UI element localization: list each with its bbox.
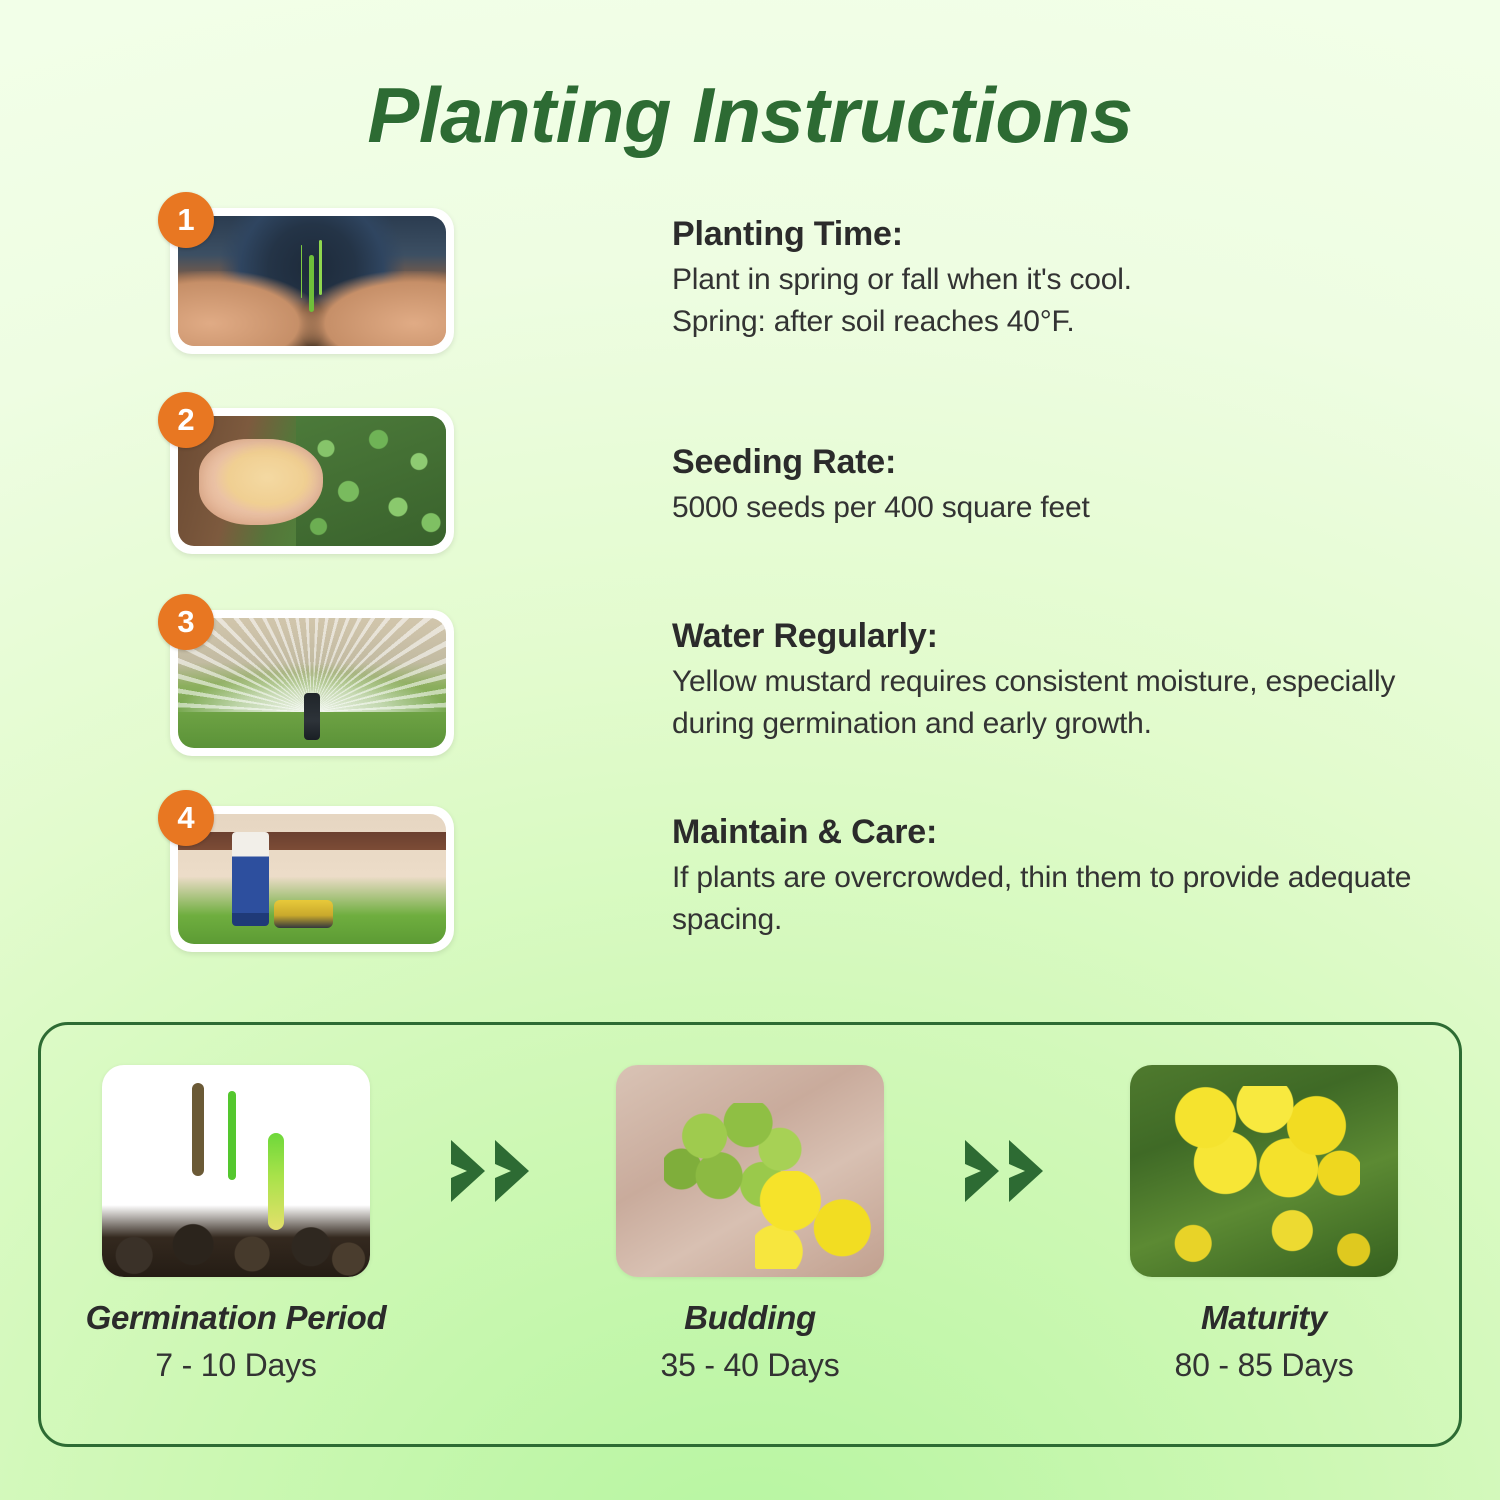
step-number-badge: 2 <box>158 392 214 448</box>
lawn-mower-icon <box>274 900 333 929</box>
step-body: 5000 seeds per 400 square feet <box>672 487 1090 528</box>
step-heading: Water Regularly: <box>672 616 1440 657</box>
step-image-card <box>170 408 454 554</box>
step-image-card <box>170 208 454 354</box>
stage-days: 80 - 85 Days <box>1103 1347 1425 1384</box>
step-body: Yellow mustard requires consistent moist… <box>672 661 1440 744</box>
step-text-block: Planting Time: Plant in spring or fall w… <box>454 192 1132 342</box>
timeline-stage-germination: Germination Period 7 - 10 Days <box>75 1065 397 1384</box>
step-image-card <box>170 610 454 756</box>
step-number-badge: 4 <box>158 790 214 846</box>
stage-name: Budding <box>589 1299 911 1337</box>
step-body: If plants are overcrowded, thin them to … <box>672 857 1440 940</box>
double-chevron-right-icon <box>947 1065 1067 1277</box>
growth-timeline-row: Germination Period 7 - 10 Days Budding 3… <box>41 1025 1459 1444</box>
step-text-block: Maintain & Care: If plants are overcrowd… <box>454 790 1440 940</box>
step-image-card <box>170 806 454 952</box>
stage-name: Germination Period <box>75 1299 397 1337</box>
mustard-flower-buds-photo <box>616 1065 884 1277</box>
step-text-block: Seeding Rate: 5000 seeds per 400 square … <box>454 392 1090 529</box>
page-title: Planting Instructions <box>0 76 1500 154</box>
stage-days: 7 - 10 Days <box>75 1347 397 1384</box>
hands-holding-soil-seedling-photo <box>178 216 446 346</box>
step-number-badge: 3 <box>158 594 214 650</box>
list-item: 2 Seeding Rate: 5000 seeds per 400 squar… <box>158 392 1440 594</box>
step-heading: Seeding Rate: <box>672 442 1090 483</box>
header: Planting Instructions <box>0 0 1500 154</box>
step-heading: Maintain & Care: <box>672 812 1440 853</box>
timeline-stage-budding: Budding 35 - 40 Days <box>589 1065 911 1384</box>
stage-name: Maturity <box>1103 1299 1425 1337</box>
growth-timeline-panel: Germination Period 7 - 10 Days Budding 3… <box>38 1022 1462 1447</box>
double-chevron-right-icon <box>433 1065 553 1277</box>
planting-steps-list: 1 Planting Time: Plant in spring or fall… <box>0 192 1500 990</box>
step-number-badge: 1 <box>158 192 214 248</box>
list-item: 4 Maintain & Care: If plants are overcro… <box>158 790 1440 990</box>
step-text-block: Water Regularly: Yellow mustard requires… <box>454 594 1440 744</box>
step-heading: Planting Time: <box>672 214 1132 255</box>
timeline-stage-maturity: Maturity 80 - 85 Days <box>1103 1065 1425 1384</box>
step-body: Plant in spring or fall when it's cool. … <box>672 259 1132 342</box>
stage-days: 35 - 40 Days <box>589 1347 911 1384</box>
man-mowing-lawn-photo <box>178 814 446 944</box>
lawn-sprinkler-watering-photo <box>178 618 446 748</box>
sprouting-seed-photo <box>102 1065 370 1277</box>
yellow-mustard-flowers-photo <box>1130 1065 1398 1277</box>
list-item: 3 Water Regularly: Yellow mustard requir… <box>158 594 1440 790</box>
list-item: 1 Planting Time: Plant in spring or fall… <box>158 192 1440 392</box>
hand-holding-mustard-seeds-photo <box>178 416 446 546</box>
